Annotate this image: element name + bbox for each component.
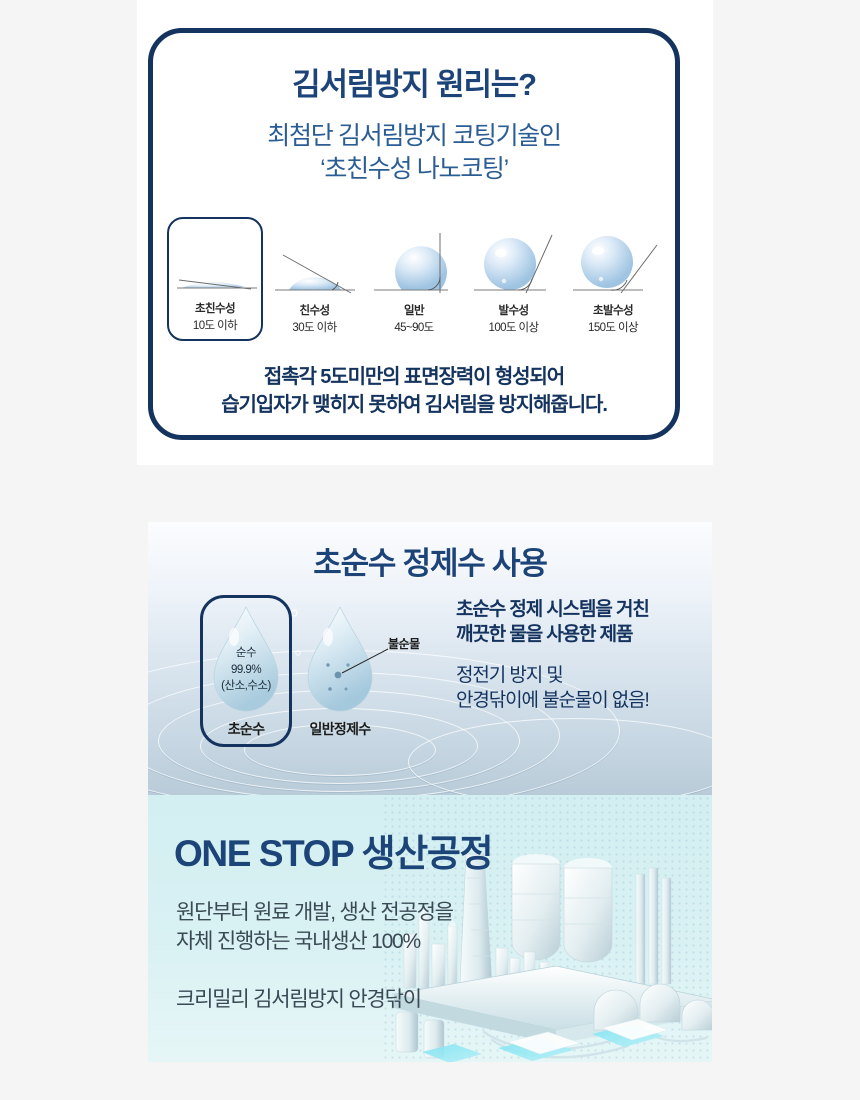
pure-droplet-line2: 99.9%	[200, 662, 292, 679]
onestop-desc-line2: 자체 진행하는 국내생산 100%	[176, 928, 712, 957]
antifog-principle-panel: 김서림방지 원리는? 최첨단 김서림방지 코팅기술인 ‘초친수성 나노코팅’	[137, 0, 713, 465]
onestop-process-section: ONE STOP 생산공정 원단부터 원료 개발, 생산 전공정을 자체 진행하…	[148, 795, 712, 1062]
antifog-footer-text: 접촉각 5도미만의 표면장력이 형성되어 습기입자가 맺히지 못하여 김서림을 …	[153, 363, 675, 420]
purewater-strong-line2: 깨끗한 물을 사용한 제품	[456, 622, 649, 647]
contact-angle-item-hydrophobic: 발수성 100도 이상	[466, 221, 562, 341]
contact-angle-item-normal: 일반 45~90도	[366, 221, 462, 341]
contact-angle-diagram: 초친수성 10도 이하	[167, 217, 661, 341]
purewater-strong-text: 초순수 정제 시스템을 거친 깨끗한 물을 사용한 제품	[456, 597, 649, 648]
contact-angle-value: 30도 이하	[269, 319, 361, 335]
normal-droplet-caption: 일반정제수	[294, 719, 386, 739]
contact-angle-figure	[567, 227, 659, 299]
antifog-subtitle: 최첨단 김서림방지 코팅기술인 ‘초친수성 나노코팅’	[153, 120, 675, 187]
pure-droplet-line3: (산소,수소)	[200, 678, 292, 695]
contact-angle-name: 친수성	[269, 302, 361, 318]
contact-angle-figure	[368, 227, 460, 299]
onestop-desc-line1: 원단부터 원료 개발, 생산 전공정을	[176, 899, 712, 928]
purewater-description: 초순수 정제 시스템을 거친 깨끗한 물을 사용한 제품 정전기 방지 및 안경…	[456, 593, 649, 765]
antifog-footer-line1: 접촉각 5도미만의 표면장력이 형성되어	[153, 363, 675, 391]
onestop-title: ONE STOP 생산공정	[174, 823, 712, 877]
purewater-strong-line1: 초순수 정제 시스템을 거친	[456, 597, 649, 622]
antifog-subtitle-line2: ‘초친수성 나노코팅’	[153, 153, 675, 186]
impurity-label: 불순물	[388, 635, 420, 652]
purewater-normal-line2: 안경닦이에 불순물이 없음!	[456, 688, 649, 713]
antifog-card: 김서림방지 원리는? 최첨단 김서림방지 코팅기술인 ‘초친수성 나노코팅’	[148, 28, 680, 440]
purewater-body: 순수 99.9% (산소,수소) 초순수 일반정제수 불순물 초순수 정제 시스…	[148, 593, 712, 765]
pure-droplet-caption: 초순수	[200, 719, 292, 739]
contact-angle-figure	[171, 225, 259, 297]
pure-droplet-inner-text: 순수 99.9% (산소,수소)	[200, 645, 292, 695]
contact-angle-value: 150도 이상	[567, 319, 659, 335]
purewater-normal-line1: 정전기 방지 및	[456, 663, 649, 688]
droplet-comparison: 순수 99.9% (산소,수소) 초순수 일반정제수 불순물	[170, 593, 448, 765]
contact-angle-name: 초친수성	[171, 300, 259, 316]
water-and-process-panel: 초순수 정제수 사용	[148, 522, 712, 1062]
contact-angle-name: 초발수성	[567, 302, 659, 318]
contact-angle-name: 일반	[368, 302, 460, 318]
antifog-footer-line2: 습기입자가 맺히지 못하여 김서림을 방지해줍니다.	[153, 391, 675, 419]
antifog-title: 김서림방지 원리는?	[153, 59, 675, 104]
antifog-subtitle-line1: 최첨단 김서림방지 코팅기술인	[153, 120, 675, 153]
contact-angle-figure	[468, 227, 560, 299]
onestop-description: 원단부터 원료 개발, 생산 전공정을 자체 진행하는 국내생산 100%	[176, 899, 712, 957]
pure-droplet-line1: 순수	[200, 645, 292, 662]
contact-angle-value: 45~90도	[368, 319, 460, 335]
contact-angle-name: 발수성	[468, 302, 560, 318]
contact-angle-item-superhydrophobic: 초발수성 150도 이상	[565, 221, 661, 341]
contact-angle-value: 100도 이상	[468, 319, 560, 335]
ultrapure-water-section: 초순수 정제수 사용	[148, 522, 712, 795]
onestop-product-line: 크리밀리 김서림방지 안경닦이	[176, 983, 712, 1013]
purewater-title: 초순수 정제수 사용	[148, 522, 712, 583]
contact-angle-item-hydrophilic: 친수성 30도 이하	[267, 221, 363, 341]
contact-angle-value: 10도 이하	[171, 317, 259, 333]
contact-angle-item-superhydrophilic: 초친수성 10도 이하	[167, 217, 263, 341]
contact-angle-figure	[269, 227, 361, 299]
purewater-normal-text: 정전기 방지 및 안경닦이에 불순물이 없음!	[456, 663, 649, 714]
